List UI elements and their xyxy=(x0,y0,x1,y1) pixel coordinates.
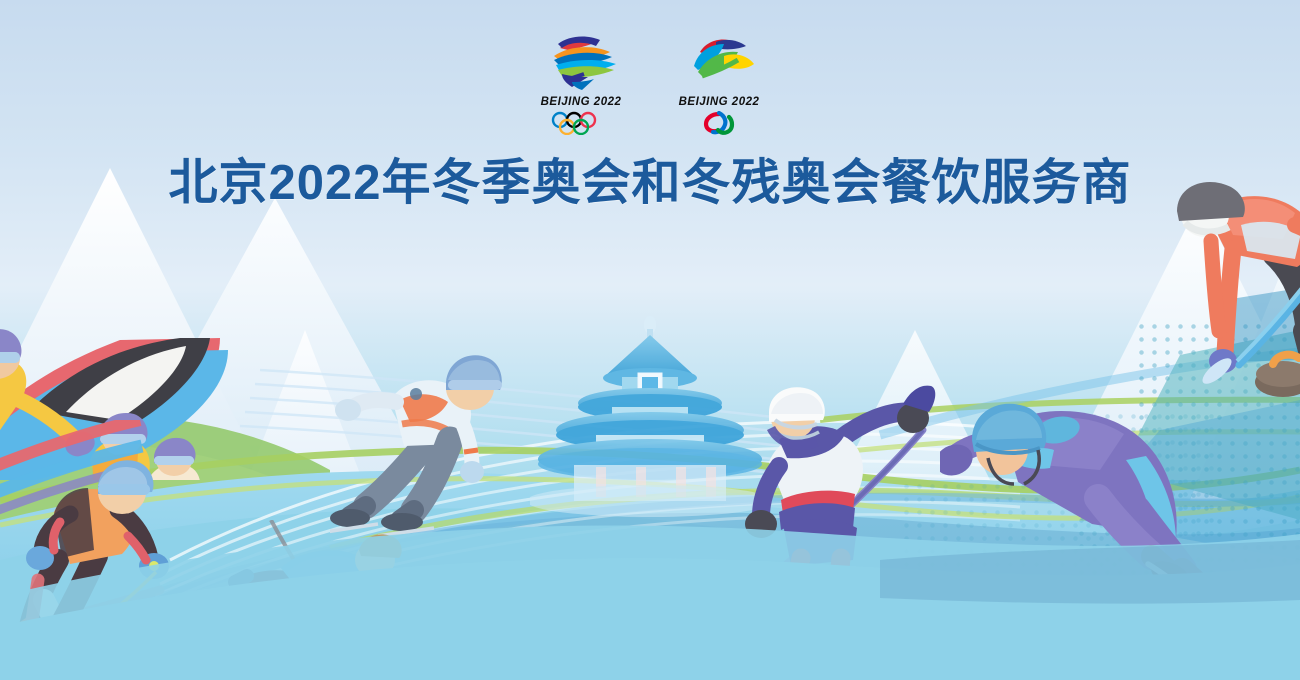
curling-stones-group xyxy=(1225,340,1300,430)
paralympic-agitos-icon xyxy=(687,111,751,135)
paralympic-emblem: BEIJING 2022 xyxy=(664,32,774,135)
athlete-ice-hockey-player xyxy=(735,378,965,628)
olympic-winter-games-logo-icon xyxy=(538,32,624,94)
olympic-wordmark: BEIJING 2022 xyxy=(526,96,636,108)
paralympic-wordmark: BEIJING 2022 xyxy=(664,96,774,108)
banner-canvas: BEIJING 2022 BEIJING 20 xyxy=(0,0,1300,680)
page-title: 北京2022年冬季奥会和冬残奥会餐饮服务商 xyxy=(0,143,1300,214)
olympic-rings-icon xyxy=(549,111,613,135)
paralympic-winter-games-logo-icon xyxy=(676,32,762,94)
emblem-row: BEIJING 2022 BEIJING 20 xyxy=(0,32,1300,135)
athlete-curler-delivering xyxy=(225,520,515,680)
olympic-emblem: BEIJING 2022 xyxy=(526,32,636,135)
